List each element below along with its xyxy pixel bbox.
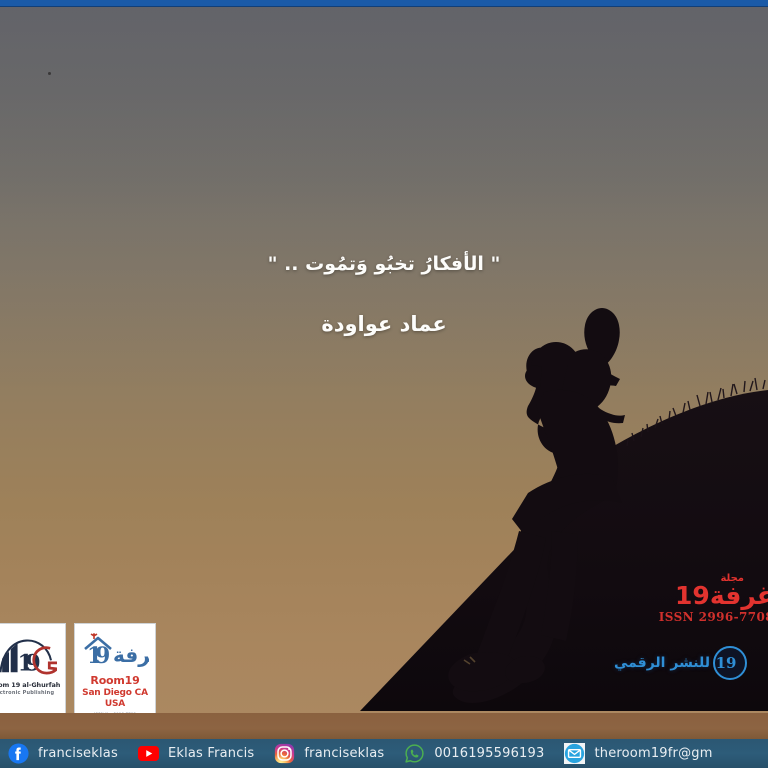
- quote-block: " الأفكارُ تخبُو وَتمُوت .. " عماد عواود…: [0, 250, 768, 336]
- social-item-youtube[interactable]: Eklas Francis: [138, 743, 274, 764]
- watermark-tagline-row: 19 للنشر الرقمي: [614, 646, 768, 680]
- watermark-title: غرفة19: [614, 583, 768, 609]
- quote-card-canvas: " الأفكارُ تخبُو وَتمُوت .. " عماد عواود…: [0, 0, 768, 768]
- room19-logo-mark: 1 9 غرفة: [81, 633, 149, 669]
- top-accent-bar: [0, 0, 768, 7]
- ghurfah-caption-line1: oom 19 al-Ghurfah: [0, 681, 60, 689]
- background-photo: " الأفكارُ تخبُو وَتمُوت .. " عماد عواود…: [0, 7, 768, 718]
- logo-card-ghurfah: 1 9 oom 19 al-Ghurfah ctronic Publishing: [0, 623, 66, 718]
- whatsapp-icon[interactable]: [404, 743, 425, 764]
- watermark-tagline: للنشر الرقمي: [614, 655, 710, 671]
- youtube-handle[interactable]: Eklas Francis: [168, 746, 254, 761]
- magazine-watermark: مجلة غرفة19 ISSN 2996-7708 19 للنشر الرق…: [614, 573, 768, 680]
- email-address[interactable]: theroom19fr@gm: [594, 746, 712, 761]
- room19-line1: Room19: [90, 674, 139, 687]
- facebook-handle[interactable]: franciseklas: [38, 746, 118, 761]
- room19-line2: San Diego CA: [82, 688, 148, 698]
- brown-divider-band: [0, 713, 768, 739]
- email-icon[interactable]: [564, 743, 585, 764]
- quote-author: عماد عواودة: [0, 312, 768, 336]
- ghurfah-logo-mark: 1 9: [0, 632, 57, 680]
- instagram-icon[interactable]: [274, 743, 295, 764]
- facebook-icon[interactable]: [8, 743, 29, 764]
- social-item-whatsapp[interactable]: 0016195596193: [404, 743, 564, 764]
- watermark-badge-number: 19: [716, 654, 737, 672]
- social-item-instagram[interactable]: franciseklas: [274, 743, 404, 764]
- quote-text: " الأفكارُ تخبُو وَتمُوت .. ": [0, 250, 768, 279]
- youtube-icon[interactable]: [138, 743, 159, 764]
- room19-line3: USA: [105, 699, 125, 709]
- svg-text:9: 9: [95, 643, 110, 669]
- social-item-facebook[interactable]: franciseklas: [8, 743, 138, 764]
- whatsapp-number[interactable]: 0016195596193: [434, 746, 544, 761]
- social-footer-bar: franciseklas Eklas Francis: [0, 739, 768, 768]
- watermark-19-badge: 19: [713, 646, 747, 680]
- instagram-handle[interactable]: franciseklas: [304, 746, 384, 761]
- social-item-email[interactable]: theroom19fr@gm: [564, 743, 712, 764]
- svg-text:غرفة: غرفة: [113, 643, 149, 667]
- logo-card-room19: 1 9 غرفة Room19 San Diego CA USA ISSN No…: [74, 623, 156, 718]
- watermark-issn: ISSN 2996-7708: [614, 610, 768, 624]
- ghurfah-caption-line2: ctronic Publishing: [0, 690, 54, 696]
